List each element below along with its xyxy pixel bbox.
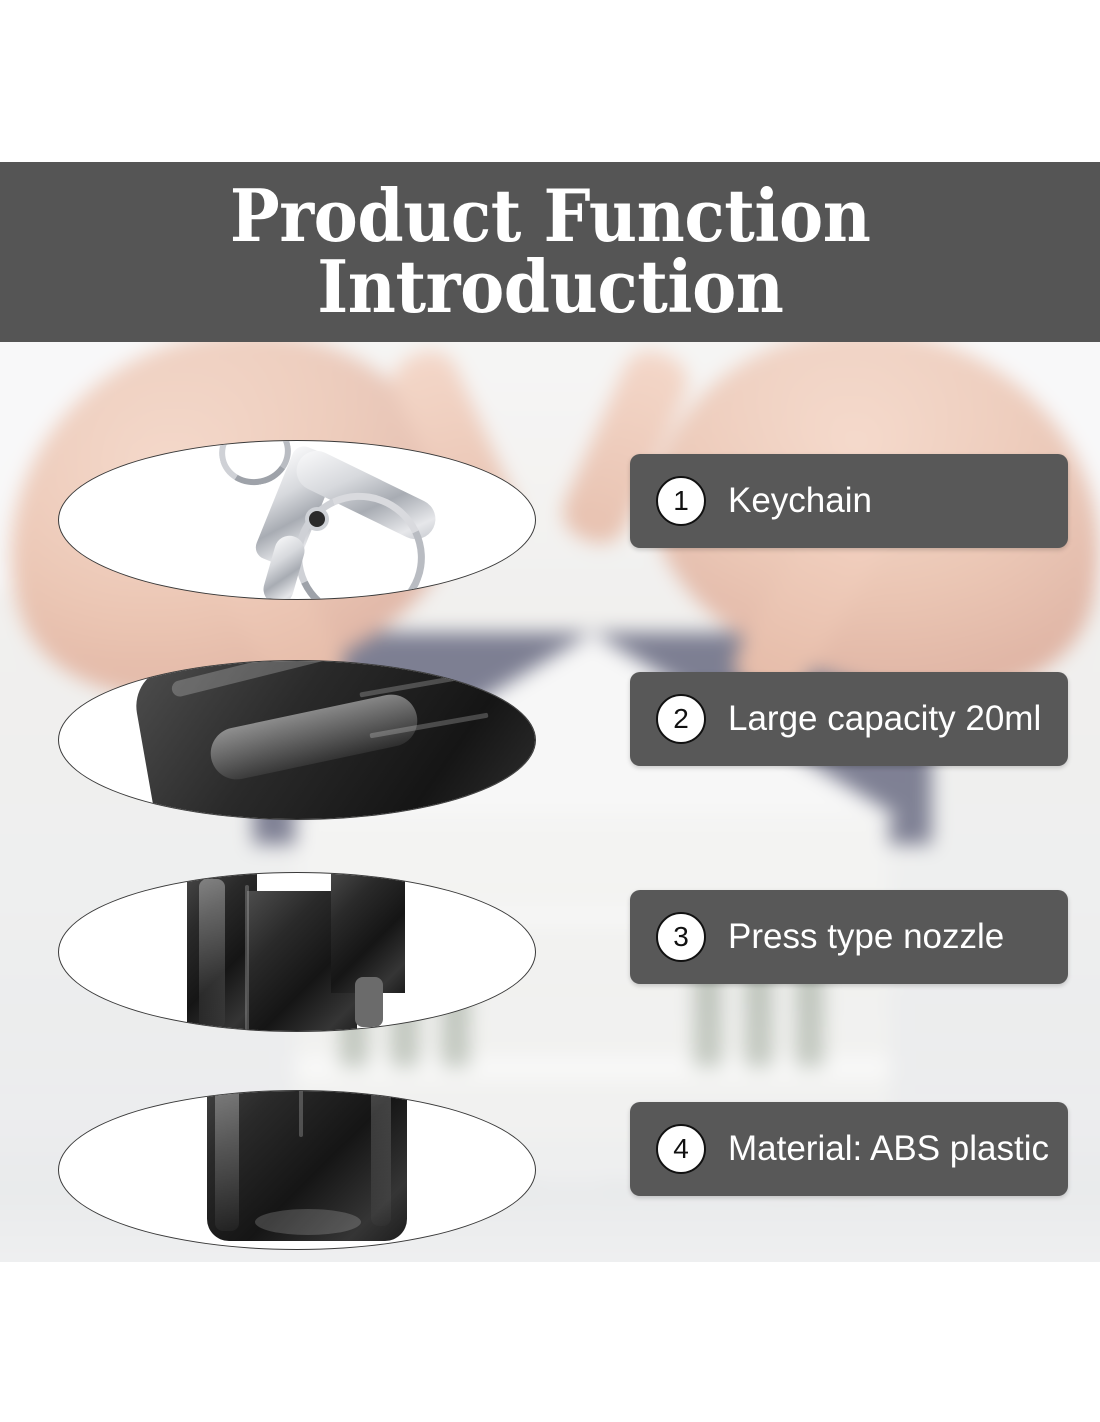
header-banner: Product Function Introduction — [0, 162, 1100, 342]
feature-number-badge-4: 4 — [656, 1124, 706, 1174]
bottom-margin — [0, 1262, 1100, 1422]
feature-number-1: 1 — [673, 485, 689, 517]
feature-image-oval-4 — [58, 1090, 536, 1250]
feature-label-2[interactable]: 2 Large capacity 20ml — [630, 672, 1068, 766]
keychain-clasp-image — [59, 441, 535, 599]
feature-number-2: 2 — [673, 703, 689, 735]
feature-number-badge-1: 1 — [656, 476, 706, 526]
press-nozzle-image — [59, 873, 535, 1031]
base-slot — [299, 1091, 303, 1137]
nozzle-highlight — [199, 879, 225, 1029]
feature-number-3: 3 — [673, 921, 689, 953]
bottle-body-image — [59, 661, 535, 819]
base-bottom-curve — [255, 1209, 361, 1235]
nozzle-tip — [355, 977, 383, 1027]
feature-label-text-3: Press type nozzle — [728, 917, 1004, 957]
page-title-line-2: Introduction — [317, 252, 783, 323]
feature-label-text-4: Material: ABS plastic — [728, 1129, 1049, 1169]
feature-image-oval-2 — [58, 660, 536, 820]
feature-image-oval-1 — [58, 440, 536, 600]
base-left-shine — [215, 1091, 239, 1231]
feature-number-badge-2: 2 — [656, 694, 706, 744]
feature-label-4[interactable]: 4 Material: ABS plastic — [630, 1102, 1068, 1196]
nozzle-right-lip — [331, 873, 405, 993]
infographic-page: Product Function Introduction — [0, 0, 1100, 1422]
abs-plastic-base-image — [59, 1091, 535, 1249]
page-title-line-1: Product Function — [230, 181, 871, 252]
base-right-shine — [371, 1091, 391, 1226]
clasp-rivet — [309, 511, 325, 527]
feature-label-3[interactable]: 3 Press type nozzle — [630, 890, 1068, 984]
nozzle-seam — [245, 885, 249, 1031]
feature-image-oval-3 — [58, 872, 536, 1032]
feature-label-text-2: Large capacity 20ml — [728, 699, 1041, 739]
product-photo-area: 1 Keychain 2 Large capacity 20ml 3 Press… — [0, 342, 1100, 1262]
feature-label-text-1: Keychain — [728, 481, 872, 521]
feature-number-4: 4 — [673, 1133, 689, 1165]
feature-number-badge-3: 3 — [656, 912, 706, 962]
feature-label-1[interactable]: 1 Keychain — [630, 454, 1068, 548]
